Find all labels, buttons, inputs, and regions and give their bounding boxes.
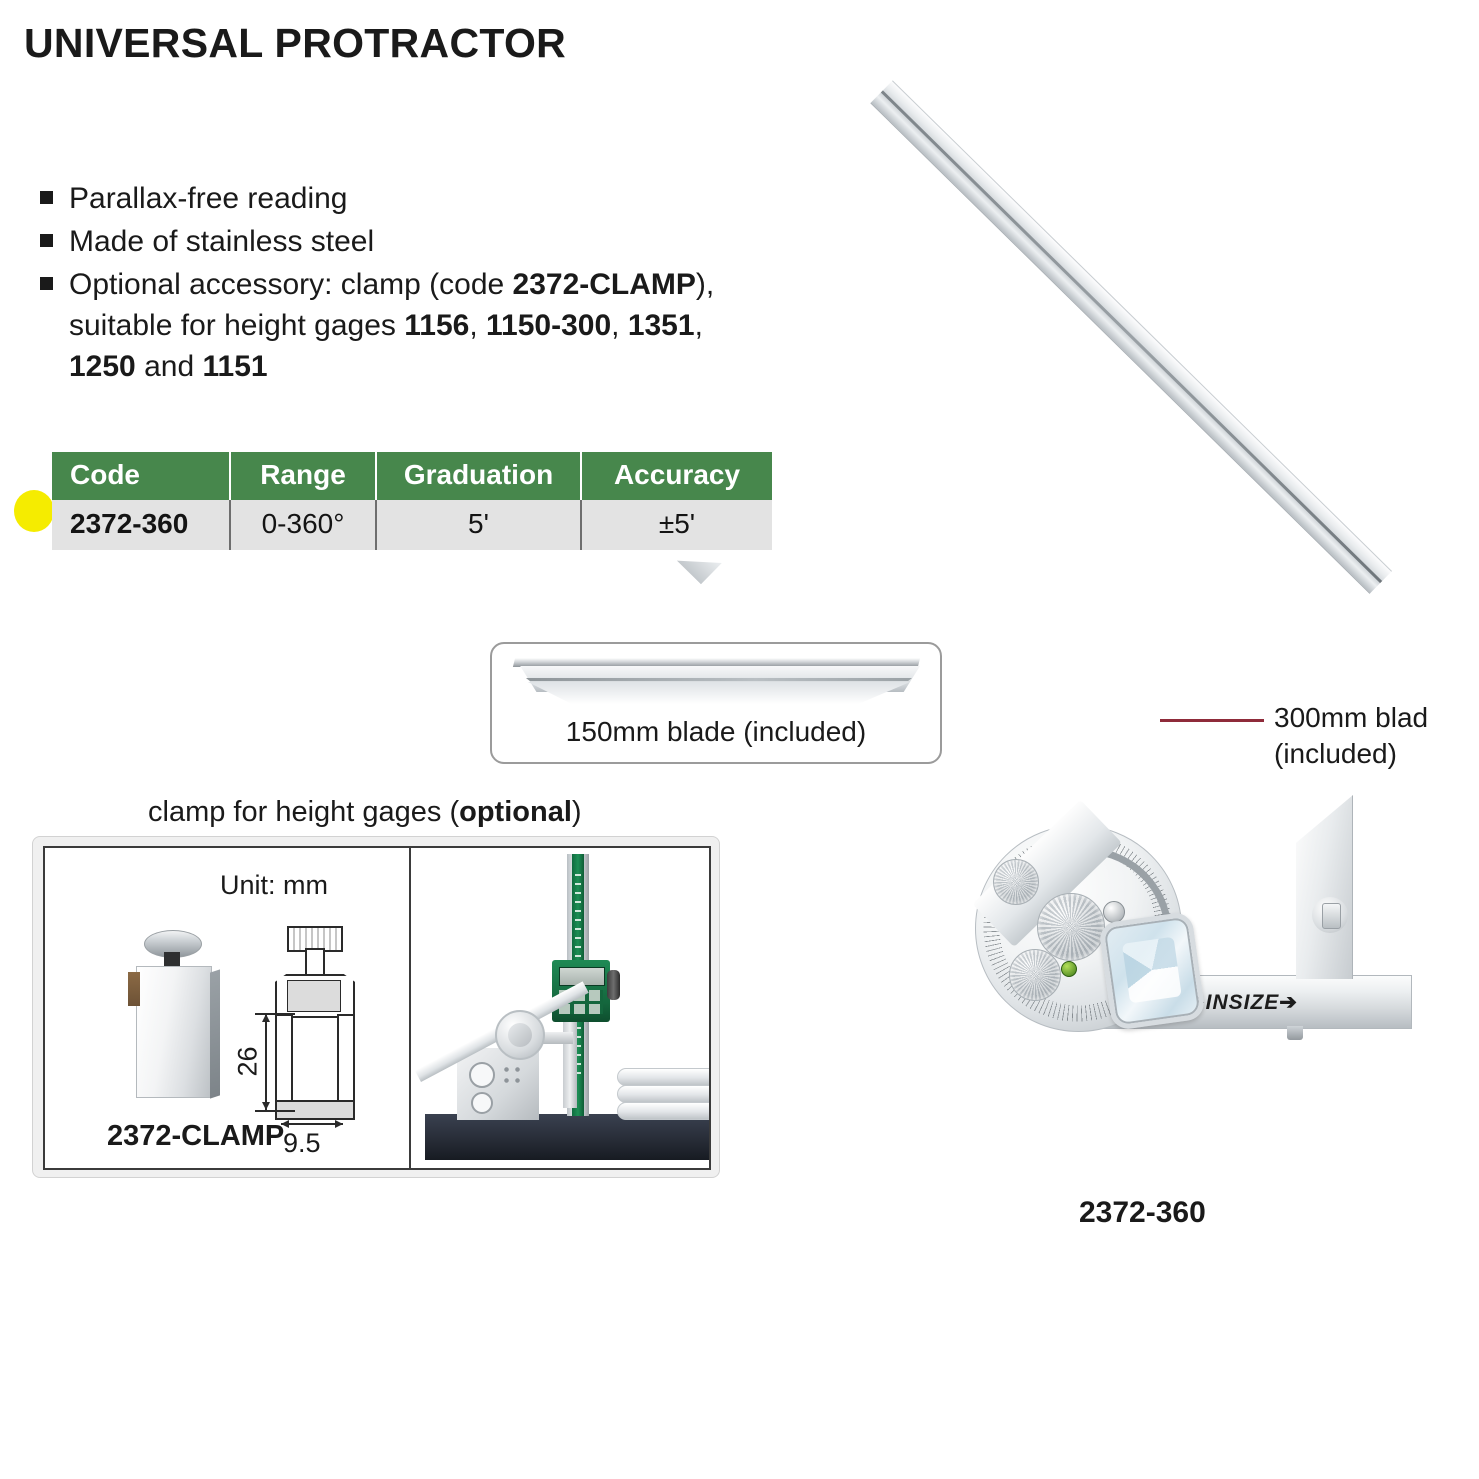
dial-face <box>495 1010 545 1060</box>
list-item: Made of stainless steel <box>40 221 900 262</box>
sep: , <box>611 309 628 342</box>
green-screw <box>1061 961 1077 977</box>
clamp-code-label: 2372-CLAMP <box>107 1120 284 1153</box>
blade-leader-line <box>1160 719 1264 722</box>
specification-table: Code Range Graduation Accuracy 2372-360 … <box>52 452 772 550</box>
feature-list: Parallax-free reading Made of stainless … <box>40 178 900 389</box>
dimension-height-value: 26 <box>233 1046 264 1076</box>
gage-code-1151: 1151 <box>202 350 267 383</box>
acute-attachment-screw <box>1312 897 1348 933</box>
application-scene <box>411 848 709 1168</box>
locking-knob-lower <box>1009 949 1061 1001</box>
column-header-accuracy: Accuracy <box>581 452 772 500</box>
unit-label: Unit: mm <box>220 870 328 901</box>
clamp-photo <box>120 930 220 1110</box>
dimension-width-value: 9.5 <box>283 1128 321 1159</box>
gage-code-1250: 1250 <box>69 350 136 383</box>
clamp-diagram-pane: Unit: mm 26 9.5 <box>45 848 411 1168</box>
gage-code-1156: 1156 <box>404 309 469 342</box>
cell-code: 2372-360 <box>52 500 230 550</box>
gage-code-1351: 1351 <box>628 309 695 342</box>
feature-text-pre: Optional accessory: clamp (code <box>69 268 513 301</box>
height-gage-application-photo <box>411 848 709 1168</box>
drawing-ext-line-bottom <box>255 1110 295 1112</box>
sep: , <box>695 309 703 342</box>
fixture-hole <box>471 1092 493 1114</box>
locking-knob-center <box>1037 893 1105 961</box>
arrow-right-icon: ➔ <box>1279 990 1298 1015</box>
clamp-dimension-drawing: 26 9.5 <box>241 926 391 1136</box>
bullet-square-icon <box>40 234 53 247</box>
clamp-heading-optional: optional <box>459 796 572 828</box>
fixture-dot-pattern <box>501 1064 523 1086</box>
blade-300mm-label-line1: 300mm blad <box>1274 700 1479 736</box>
column-header-range: Range <box>230 452 376 500</box>
drawing-ext-line-top <box>255 1013 295 1015</box>
column-header-code: Code <box>52 452 230 500</box>
protractor-dial-assembly <box>975 825 1195 1045</box>
gage-block <box>617 1102 709 1120</box>
gage-code-1150-300: 1150-300 <box>486 309 611 342</box>
drawing-vertical-dim-arrow <box>265 1014 267 1110</box>
locking-knob-upper <box>993 859 1039 905</box>
clamp-section-heading: clamp for height gages (optional) <box>148 796 582 829</box>
cell-graduation: 5' <box>376 500 581 550</box>
blade-300mm-label-line2: (included) <box>1274 736 1479 772</box>
clamp-body <box>136 966 212 1098</box>
gages-text-pre: suitable for height gages <box>69 309 404 342</box>
gage-block-stack <box>617 1068 709 1120</box>
clamp-heading-post: ) <box>572 796 582 828</box>
clamp-heading-pre: clamp for height gages ( <box>148 796 459 828</box>
feature-text: Made of stainless steel <box>69 221 374 262</box>
page-title: UNIVERSAL PROTRACTOR <box>24 20 566 67</box>
acute-angle-attachment <box>1296 795 1353 979</box>
cell-accuracy: ±5' <box>581 500 772 550</box>
drawing-head-fill <box>287 980 341 1012</box>
clamp-code-ref: 2372-CLAMP <box>513 268 696 301</box>
conjunction: and <box>136 350 203 383</box>
drawing-horizontal-dim-arrow <box>281 1123 343 1125</box>
bullet-square-icon <box>40 277 53 290</box>
base-screw <box>1287 1026 1303 1040</box>
sep: , <box>469 309 486 342</box>
table-row[interactable]: 2372-360 0-360° 5' ±5' <box>52 500 772 550</box>
bullet-square-icon <box>40 191 53 204</box>
table-header-row: Code Range Graduation Accuracy <box>52 452 772 500</box>
brand-text: INSIZE <box>1206 991 1280 1014</box>
row-highlight-marker <box>14 490 54 532</box>
protractor-dial-mounted <box>495 1010 545 1056</box>
clamp-card-inner: Unit: mm 26 9.5 <box>43 846 711 1170</box>
fixture-hole <box>469 1062 495 1088</box>
granite-base <box>425 1114 709 1160</box>
feature-text: Parallax-free reading <box>69 178 347 219</box>
gage-block <box>617 1068 709 1086</box>
magnifier-lens <box>1098 911 1206 1031</box>
clamp-tab <box>128 972 140 1006</box>
list-item: Optional accessory: clamp (code 2372-CLA… <box>40 264 900 387</box>
column-header-graduation: Graduation <box>376 452 581 500</box>
blade-300mm-label: 300mm blad (included) <box>1274 700 1479 772</box>
feature-text-post: ), <box>696 268 714 301</box>
clamp-card: Unit: mm 26 9.5 <box>32 836 720 1178</box>
fine-adjust-knob <box>607 970 620 1000</box>
cell-range: 0-360° <box>230 500 376 550</box>
gage-block <box>617 1085 709 1103</box>
feature-text: Optional accessory: clamp (code 2372-CLA… <box>69 264 714 387</box>
300mm-blade <box>870 80 1392 593</box>
list-item: Parallax-free reading <box>40 178 900 219</box>
product-code-label: 2372-360 <box>1079 1196 1206 1230</box>
